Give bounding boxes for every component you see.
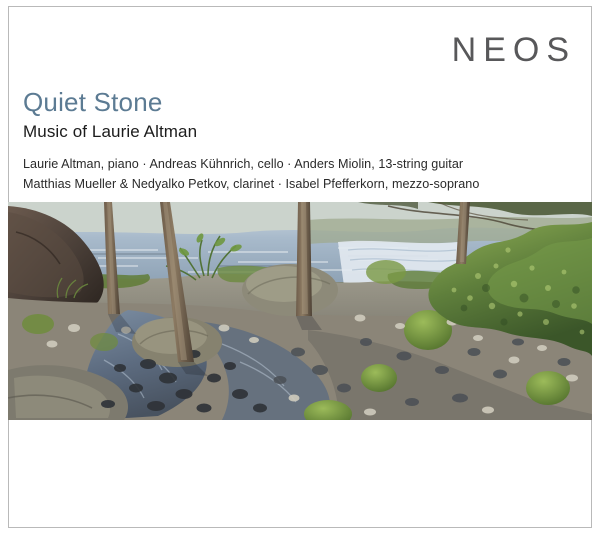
performer-credits: Laurie Altman, piano · Andreas Kühnrich,… [23,154,579,195]
title-block: Quiet Stone Music of Laurie Altman [23,88,563,142]
credit-line: Matthias Mueller & Nedyalko Petkov, clar… [23,174,579,194]
cover-photograph [8,202,592,420]
album-subtitle: Music of Laurie Altman [23,121,563,142]
album-cover: NEOS Quiet Stone Music of Laurie Altman … [0,0,600,537]
neos-label-logo: NEOS [452,33,576,67]
garden-stream-illustration [8,202,592,420]
album-title: Quiet Stone [23,88,563,117]
credit-line: Laurie Altman, piano · Andreas Kühnrich,… [23,154,579,174]
